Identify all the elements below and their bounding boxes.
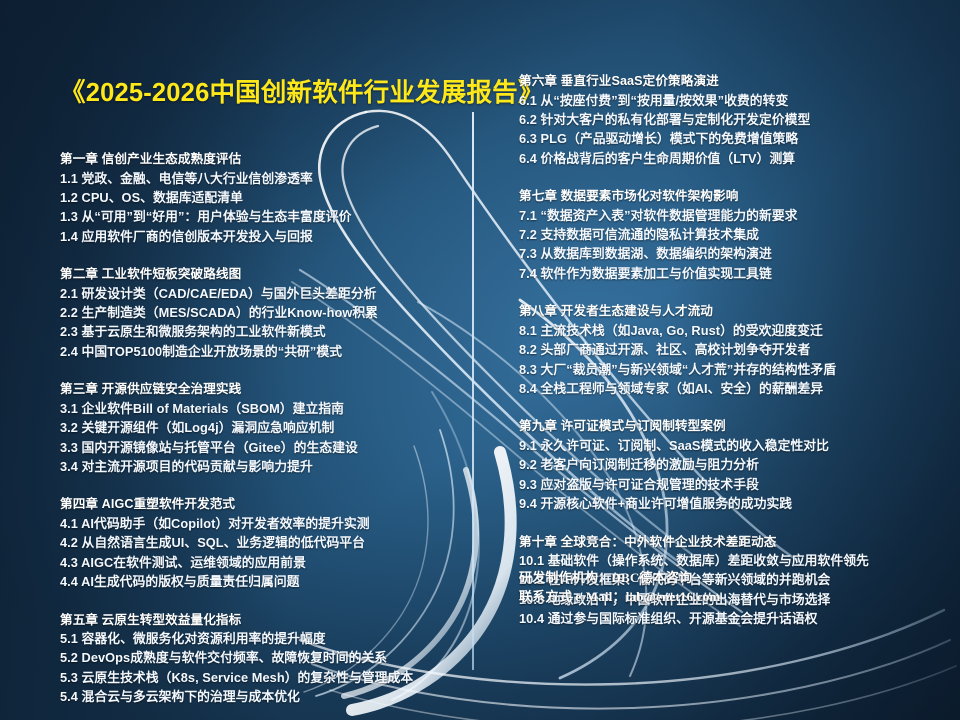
chapter-heading: 第八章 开发者生态建设与人才流动 [519,302,939,321]
chapter-heading: 第九章 许可证模式与订阅制转型案例 [519,417,939,436]
chapter-item: 2.3 基于云原生和微服务架构的工业软件新模式 [60,322,480,341]
chapter-item: 8.3 大厂“裁员潮”与新兴领域“人才荒”并存的结构性矛盾 [519,360,939,379]
chapter-item: 8.2 头部厂商通过开源、社区、高校计划争夺开发者 [519,340,939,359]
chapter-block: 第三章 开源供应链安全治理实践3.1 企业软件Bill of Materials… [60,380,480,476]
footer-block: 研发制作机构：DBC德本咨询 联系方式 e-Mail：lab@enet16.co… [519,568,720,606]
chapter-item: 5.3 云原生技术栈（K8s, Service Mesh）的复杂性与管理成本 [60,668,480,687]
chapter-item: 9.4 开源核心软件+商业许可增值服务的成功实践 [519,494,939,513]
chapter-item: 4.4 AI生成代码的版权与质量责任归属问题 [60,572,480,591]
chapter-item: 7.4 软件作为数据要素加工与价值实现工具链 [519,264,939,283]
chapter-item: 6.2 针对大客户的私有化部署与定制化开发定价模型 [519,110,939,129]
chapter-item: 3.1 企业软件Bill of Materials（SBOM）建立指南 [60,399,480,418]
chapter-item: 9.2 老客户向订阅制迁移的激励与阻力分析 [519,455,939,474]
chapter-item: 4.1 AI代码助手（如Copilot）对开发者效率的提升实测 [60,514,480,533]
chapter-item: 6.4 价格战背后的客户生命周期价值（LTV）测算 [519,149,939,168]
chapters-left-column: 第一章 信创产业生态成熟度评估1.1 党政、金融、电信等八大行业信创渗透率1.2… [60,150,480,720]
chapter-item: 1.3 从“可用”到“好用”：用户体验与生态丰富度评价 [60,207,480,226]
chapter-item: 3.3 国内开源镜像站与托管平台（Gitee）的生态建设 [60,438,480,457]
chapter-item: 10.4 通过参与国际标准组织、开源基金会提升话语权 [519,609,939,628]
chapter-heading: 第一章 信创产业生态成熟度评估 [60,150,480,169]
chapter-item: 6.3 PLG（产品驱动增长）模式下的免费增值策略 [519,129,939,148]
chapter-item: 9.1 永久许可证、订阅制、SaaS模式的收入稳定性对比 [519,436,939,455]
slide-content: 《2025-2026中国创新软件行业发展报告》 第一章 信创产业生态成熟度评估1… [0,0,960,720]
chapters-right-column: 第六章 垂直行业SaaS定价策略演进6.1 从“按座付费”到“按用量/按效果”收… [519,72,939,648]
page-title: 《2025-2026中国创新软件行业发展报告》 [60,72,544,109]
chapter-item: 7.3 从数据库到数据湖、数据编织的架构演进 [519,244,939,263]
chapter-item: 1.1 党政、金融、电信等八大行业信创渗透率 [60,169,480,188]
chapter-block: 第八章 开发者生态建设与人才流动8.1 主流技术栈（如Java, Go, Rus… [519,302,939,398]
chapter-block: 第七章 数据要素市场化对软件架构影响7.1 “数据资产入表”对软件数据管理能力的… [519,187,939,283]
chapter-item: 3.4 对主流开源项目的代码贡献与影响力提升 [60,457,480,476]
chapter-block: 第九章 许可证模式与订阅制转型案例9.1 永久许可证、订阅制、SaaS模式的收入… [519,417,939,513]
chapter-heading: 第四章 AIGC重塑软件开发范式 [60,495,480,514]
chapter-item: 8.4 全栈工程师与领域专家（如AI、安全）的薪酬差异 [519,379,939,398]
chapter-item: 6.1 从“按座付费”到“按用量/按效果”收费的转变 [519,91,939,110]
chapter-item: 5.2 DevOps成熟度与软件交付频率、故障恢复时间的关系 [60,648,480,667]
chapter-heading: 第二章 工业软件短板突破路线图 [60,265,480,284]
chapter-block: 第四章 AIGC重塑软件开发范式4.1 AI代码助手（如Copilot）对开发者… [60,495,480,591]
footer-contact: 联系方式 e-Mail：lab@enet16.com [519,587,720,606]
chapter-block: 第六章 垂直行业SaaS定价策略演进6.1 从“按座付费”到“按用量/按效果”收… [519,72,939,168]
report-slide: 《2025-2026中国创新软件行业发展报告》 第一章 信创产业生态成熟度评估1… [0,0,960,720]
chapter-item: 5.4 混合云与多云架构下的治理与成本优化 [60,687,480,706]
chapter-item: 2.2 生产制造类（MES/SCADA）的行业Know-how积累 [60,303,480,322]
chapter-heading: 第十章 全球竞合：中外软件企业技术差距动态 [519,533,939,552]
chapter-item: 1.4 应用软件厂商的信创版本开发投入与回报 [60,227,480,246]
chapter-heading: 第五章 云原生转型效益量化指标 [60,611,480,630]
chapter-item: 2.1 研发设计类（CAD/CAE/EDA）与国外巨头差距分析 [60,284,480,303]
chapter-item: 7.2 支持数据可信流通的隐私计算技术集成 [519,225,939,244]
chapter-item: 4.2 从自然语言生成UI、SQL、业务逻辑的低代码平台 [60,533,480,552]
footer-producer: 研发制作机构：DBC德本咨询 [519,568,720,587]
chapter-block: 第一章 信创产业生态成熟度评估1.1 党政、金融、电信等八大行业信创渗透率1.2… [60,150,480,246]
chapter-item: 2.4 中国TOP5100制造企业开放场景的“共研”模式 [60,342,480,361]
chapter-item: 7.1 “数据资产入表”对软件数据管理能力的新要求 [519,206,939,225]
chapter-heading: 第三章 开源供应链安全治理实践 [60,380,480,399]
chapter-block: 第二章 工业软件短板突破路线图2.1 研发设计类（CAD/CAE/EDA）与国外… [60,265,480,361]
chapter-item: 5.1 容器化、微服务化对资源利用率的提升幅度 [60,629,480,648]
chapter-item: 3.2 关键开源组件（如Log4j）漏洞应急响应机制 [60,418,480,437]
chapter-item: 1.2 CPU、OS、数据库适配清单 [60,188,480,207]
chapter-item: 4.3 AIGC在软件测试、运维领域的应用前景 [60,553,480,572]
chapter-item: 8.1 主流技术栈（如Java, Go, Rust）的受欢迎度变迁 [519,321,939,340]
chapter-heading: 第六章 垂直行业SaaS定价策略演进 [519,72,939,91]
chapter-item: 9.3 应对盗版与许可证合规管理的技术手段 [519,475,939,494]
chapter-block: 第五章 云原生转型效益量化指标5.1 容器化、微服务化对资源利用率的提升幅度5.… [60,611,480,707]
chapter-heading: 第七章 数据要素市场化对软件架构影响 [519,187,939,206]
